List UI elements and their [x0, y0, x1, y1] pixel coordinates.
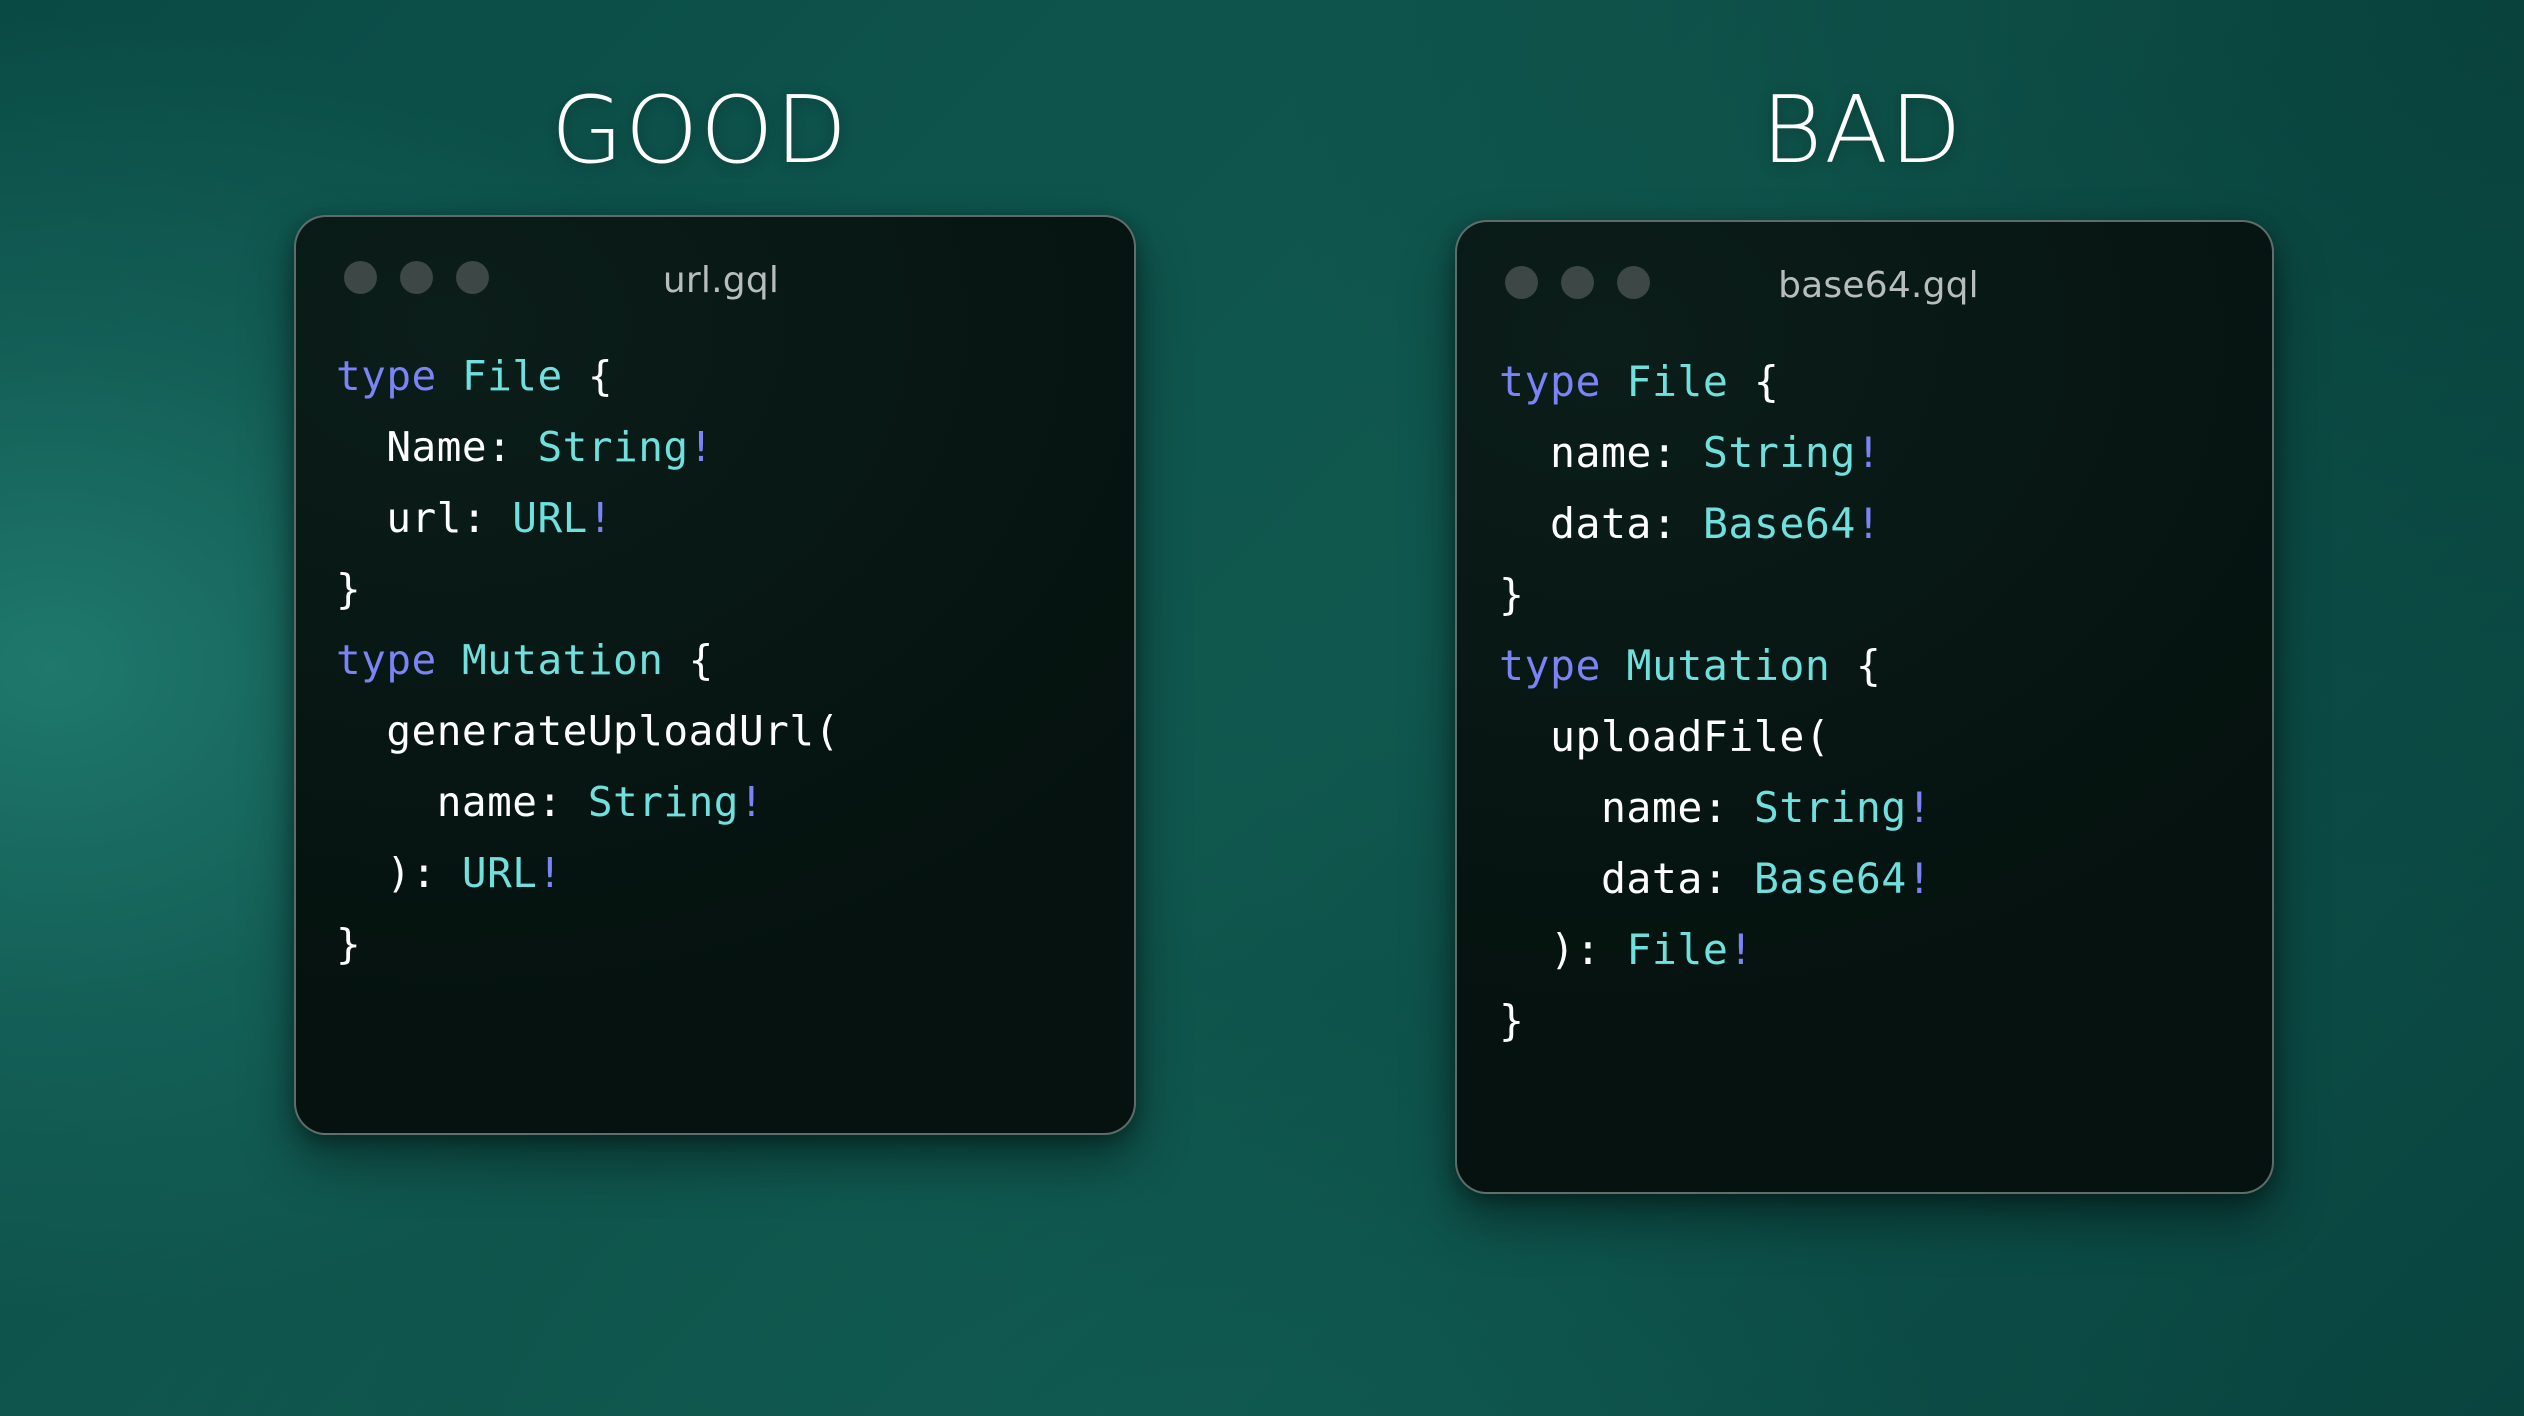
code-token-punct: : — [1703, 854, 1754, 903]
code-token-punct: : — [462, 494, 512, 542]
column-heading-bad: BAD — [1455, 84, 2270, 177]
code-token-punct: { — [1728, 357, 1779, 406]
code-line: } — [336, 909, 1134, 980]
code-token-bang: ! — [1907, 854, 1933, 903]
code-token-punct: : — [1652, 499, 1703, 548]
code-line: } — [1499, 559, 2272, 630]
code-token-punct: : — [487, 423, 537, 471]
code-token-kw: type — [1499, 357, 1601, 406]
code-token-type: URL — [512, 494, 588, 542]
code-token-field: Name — [336, 423, 487, 471]
code-token-punct: ( — [815, 707, 840, 755]
code-line: type Mutation { — [336, 625, 1134, 696]
code-token-type: URL — [462, 849, 538, 897]
column-heading-good: GOOD — [270, 84, 1130, 177]
window-filename-bad: base64.gql — [1457, 265, 2274, 306]
code-token-kw: type — [1499, 641, 1601, 690]
code-token-type: Base64 — [1754, 854, 1907, 903]
code-token-punct: } — [336, 920, 361, 968]
code-token-field: name — [336, 778, 537, 826]
code-token-punct — [437, 352, 462, 400]
code-token-bang: ! — [739, 778, 764, 826]
code-line: data: Base64! — [1499, 843, 2272, 914]
code-token-punct — [1601, 641, 1627, 690]
window-titlebar-good: url.gql — [296, 217, 1134, 333]
code-line: data: Base64! — [1499, 488, 2272, 559]
code-token-type: String — [537, 423, 688, 471]
code-token-kw: type — [336, 636, 437, 684]
code-token-bang: ! — [588, 494, 613, 542]
code-token-type: File — [1626, 357, 1728, 406]
code-line: name: String! — [1499, 772, 2272, 843]
code-token-field: name — [1499, 783, 1703, 832]
code-block-bad: type File { name: String! data: Base64!}… — [1457, 338, 2272, 1056]
code-line: uploadFile( — [1499, 701, 2272, 772]
code-token-type: Mutation — [1626, 641, 1830, 690]
code-token-punct: : — [537, 778, 587, 826]
code-token-punct: ( — [1805, 712, 1831, 761]
code-block-good: type File { Name: String! url: URL!}type… — [296, 333, 1134, 980]
code-token-punct: ): — [1499, 925, 1626, 974]
code-token-field: uploadFile — [1499, 712, 1805, 761]
code-token-punct: { — [663, 636, 713, 684]
code-line: Name: String! — [336, 412, 1134, 483]
code-line: name: String! — [336, 767, 1134, 838]
window-titlebar-bad: base64.gql — [1457, 222, 2272, 338]
code-line: type File { — [336, 341, 1134, 412]
window-filename-good: url.gql — [296, 260, 1136, 301]
code-token-bang: ! — [1856, 428, 1882, 477]
code-line: type File { — [1499, 346, 2272, 417]
code-token-punct — [1601, 357, 1627, 406]
code-token-punct: { — [563, 352, 613, 400]
code-token-punct: } — [1499, 996, 1525, 1045]
code-token-punct: { — [1830, 641, 1881, 690]
code-token-field: generateUploadUrl — [336, 707, 815, 755]
code-token-field: url — [336, 494, 462, 542]
code-token-punct: : — [1703, 783, 1754, 832]
code-line: } — [336, 554, 1134, 625]
code-token-type: Mutation — [462, 636, 663, 684]
code-line: type Mutation { — [1499, 630, 2272, 701]
code-token-punct: ): — [336, 849, 462, 897]
code-token-type: String — [1754, 783, 1907, 832]
code-token-type: String — [588, 778, 739, 826]
code-token-field: name — [1499, 428, 1652, 477]
code-token-type: File — [462, 352, 563, 400]
code-token-bang: ! — [1907, 783, 1933, 832]
code-token-punct: } — [1499, 570, 1525, 619]
code-window-bad: base64.gql type File { name: String! dat… — [1455, 220, 2274, 1194]
code-line: url: URL! — [336, 483, 1134, 554]
code-line: } — [1499, 985, 2272, 1056]
code-window-good: url.gql type File { Name: String! url: U… — [294, 215, 1136, 1135]
code-line: ): File! — [1499, 914, 2272, 985]
code-token-bang: ! — [537, 849, 562, 897]
code-token-bang: ! — [1856, 499, 1882, 548]
code-token-field: data — [1499, 854, 1703, 903]
code-token-type: String — [1703, 428, 1856, 477]
code-line: generateUploadUrl( — [336, 696, 1134, 767]
code-token-type: File — [1626, 925, 1728, 974]
code-token-bang: ! — [689, 423, 714, 471]
code-token-punct: : — [1652, 428, 1703, 477]
code-token-type: Base64 — [1703, 499, 1856, 548]
code-token-bang: ! — [1728, 925, 1754, 974]
code-line: name: String! — [1499, 417, 2272, 488]
code-token-punct — [437, 636, 462, 684]
code-token-kw: type — [336, 352, 437, 400]
slide-background: GOOD url.gql type File { Name: String! u… — [0, 0, 2524, 1416]
code-token-punct: } — [336, 565, 361, 613]
code-line: ): URL! — [336, 838, 1134, 909]
code-token-field: data — [1499, 499, 1652, 548]
